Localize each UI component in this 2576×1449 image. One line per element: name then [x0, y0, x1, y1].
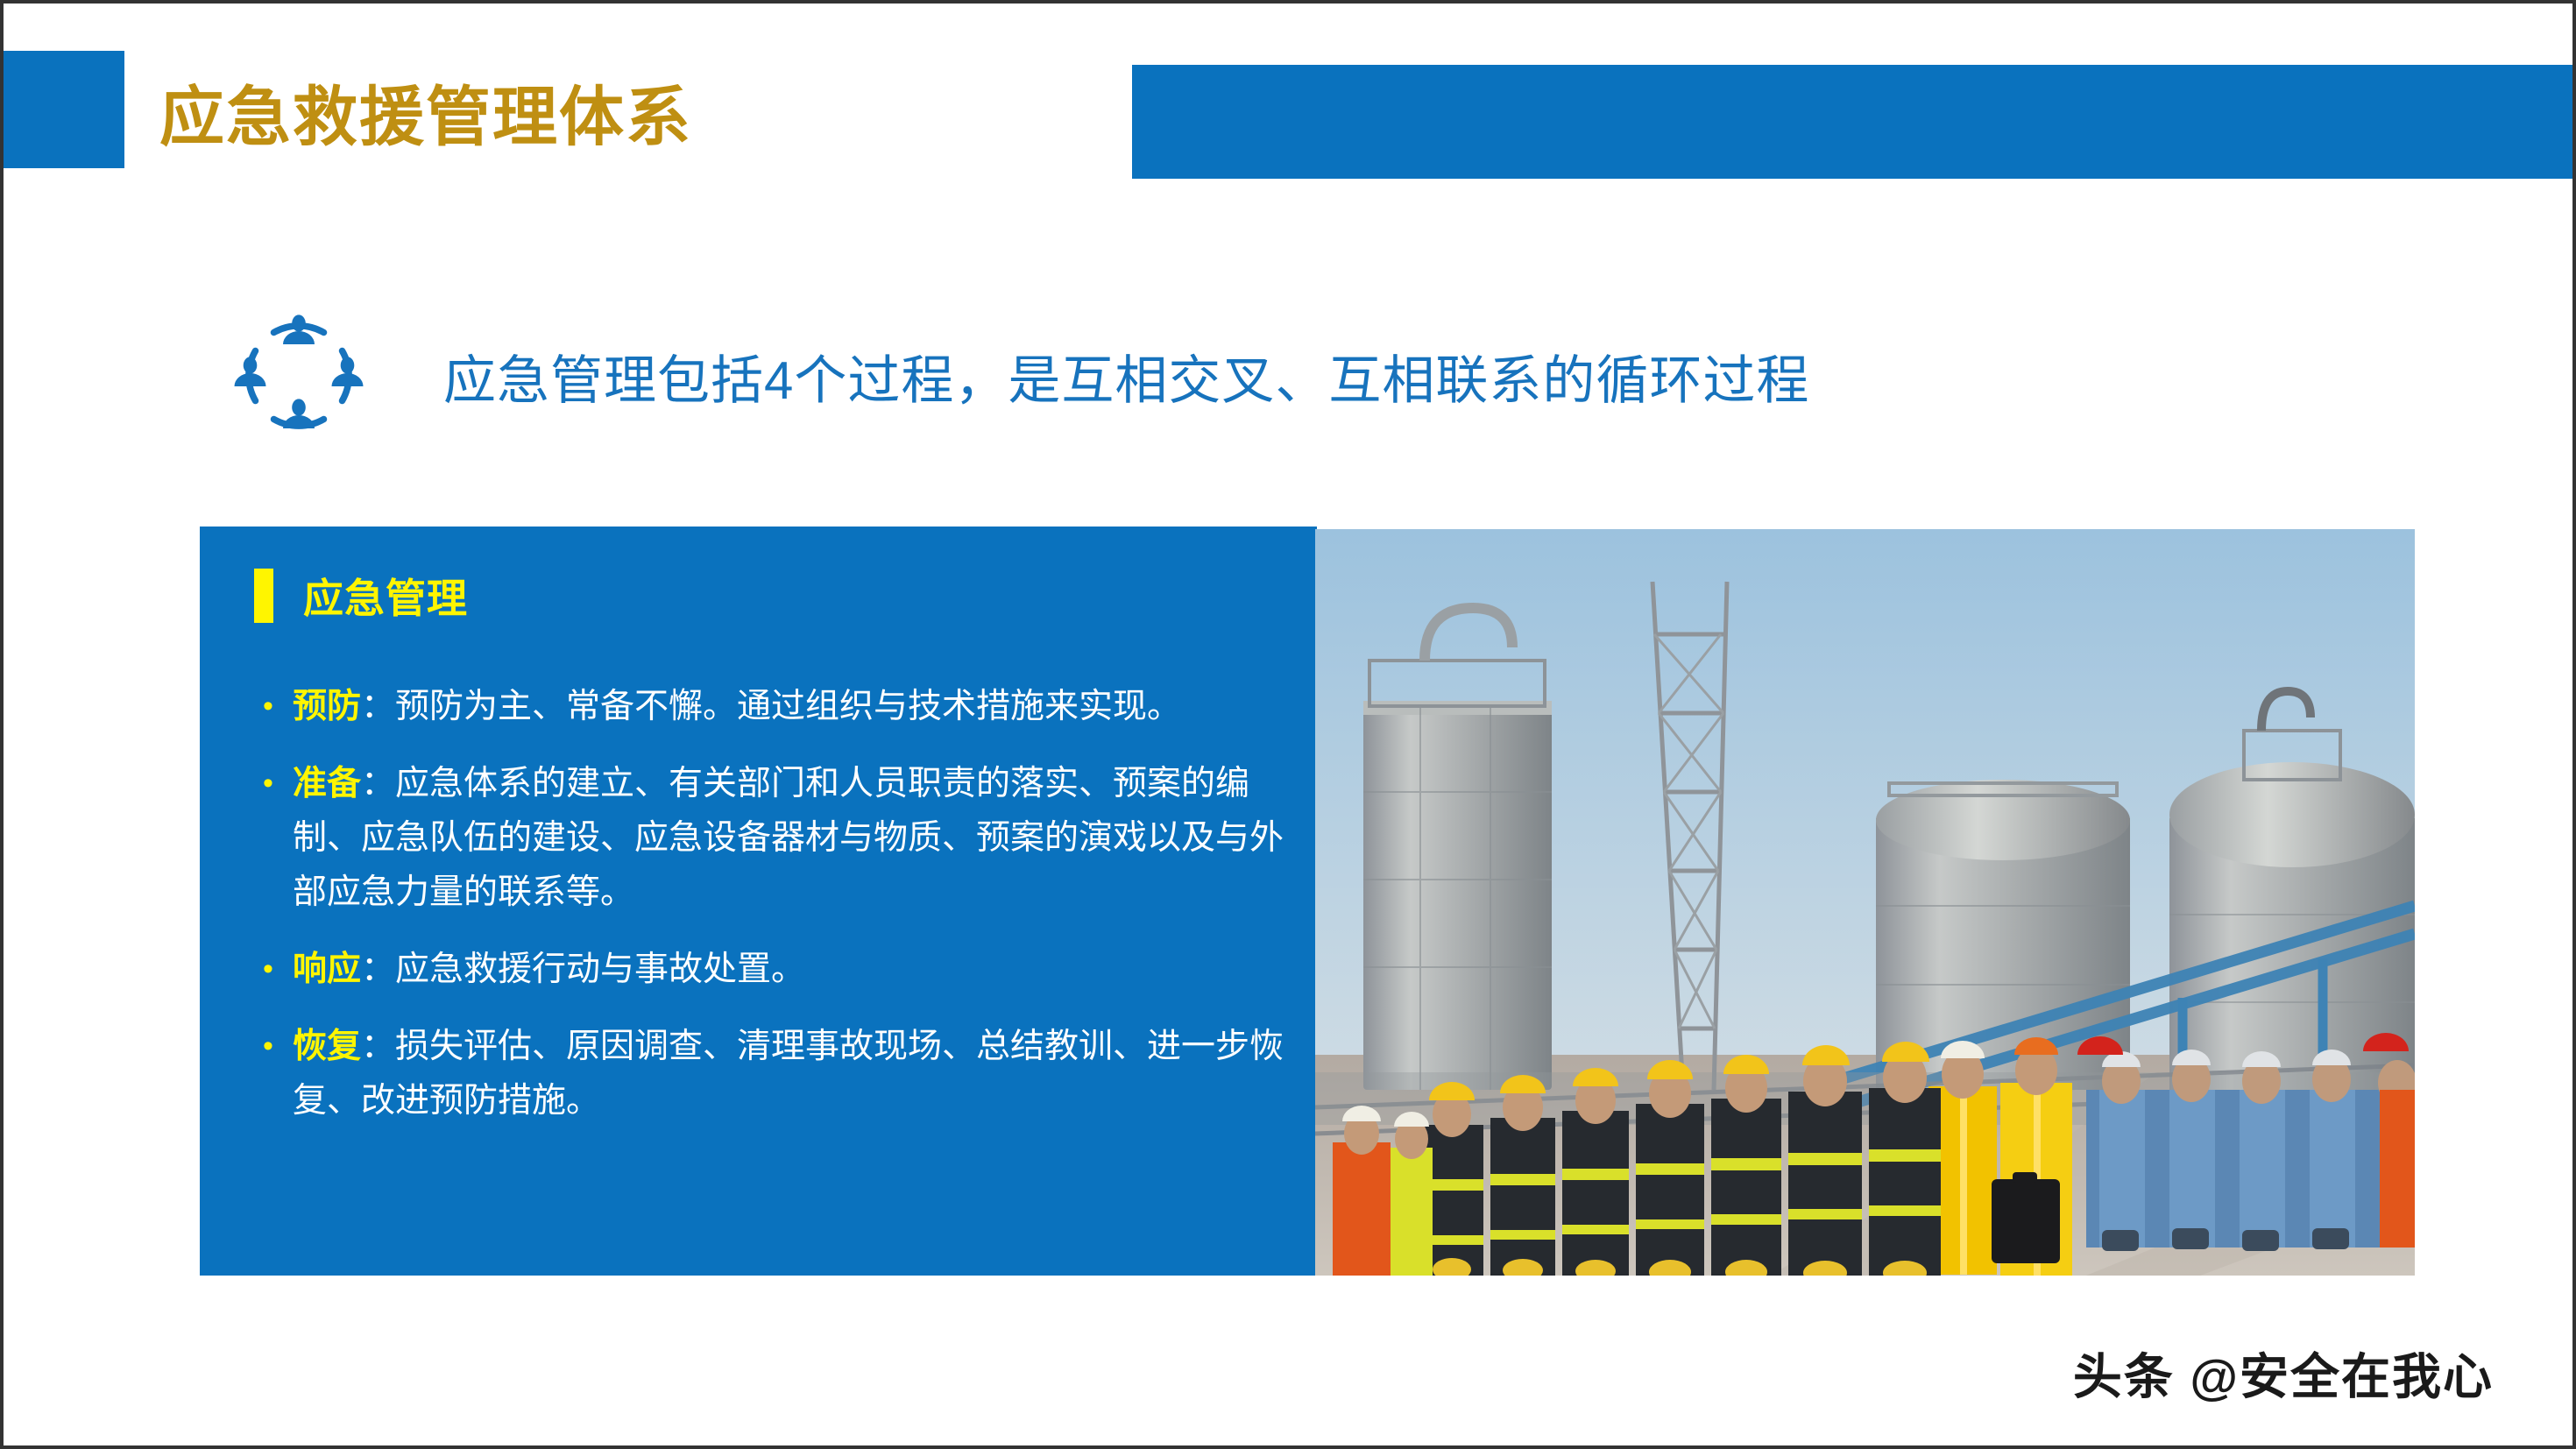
- yellow-bar-marker-icon: [254, 569, 273, 623]
- panel-heading: 应急管理: [254, 567, 468, 625]
- panel-heading-label: 应急管理: [303, 567, 468, 625]
- bullet-item: •准备：应急体系的建立、有关部门和人员职责的落实、预案的编制、应急队伍的建设、应…: [244, 757, 1292, 920]
- bullet-separator: ：: [361, 951, 395, 988]
- presentation-slide: 应急救援管理体系: [0, 0, 2576, 1449]
- bullet-description: 应急体系的建立、有关部门和人员职责的落实、预案的编制、应急队伍的建设、应急设备器…: [293, 765, 1284, 911]
- header-right-accent-bar: [1132, 65, 2576, 179]
- emergency-team-photo: [1315, 529, 2415, 1276]
- bullet-description: 损失评估、原因调查、清理事故现场、总结教训、进一步恢复、改进预防措施。: [293, 1028, 1284, 1120]
- bullet-text: 响应：应急救援行动与事故处置。: [293, 943, 805, 997]
- bullet-description: 预防为主、常备不懈。通过组织与技术措施来实现。: [395, 688, 1181, 725]
- bullet-dot-icon: •: [244, 680, 293, 732]
- bullet-dot-icon: •: [244, 757, 293, 809]
- bullet-item: •预防：预防为主、常备不懈。通过组织与技术措施来实现。: [244, 680, 1292, 734]
- page-title: 应急救援管理体系: [159, 54, 692, 168]
- bullet-item: •恢复：损失评估、原因调查、清理事故现场、总结教训、进一步恢复、改进预防措施。: [244, 1020, 1292, 1128]
- subtitle-row: 应急管理包括4个过程，是互相交叉、互相联系的循环过程: [233, 293, 1809, 459]
- bullet-text: 预防：预防为主、常备不懈。通过组织与技术措施来实现。: [293, 680, 1181, 734]
- bullet-list: •预防：预防为主、常备不懈。通过组织与技术措施来实现。•准备：应急体系的建立、有…: [244, 680, 1292, 1151]
- bullet-description: 应急救援行动与事故处置。: [395, 951, 805, 988]
- bullet-text: 准备：应急体系的建立、有关部门和人员职责的落实、预案的编制、应急队伍的建设、应急…: [293, 757, 1292, 920]
- bullet-separator: ：: [361, 1028, 395, 1065]
- bullet-dot-icon: •: [244, 943, 293, 995]
- subtitle-text: 应急管理包括4个过程，是互相交叉、互相联系的循环过程: [443, 338, 1809, 414]
- team-circle-icon: [233, 310, 364, 442]
- watermark-text: 头条 @安全在我心: [2073, 1338, 2494, 1409]
- content-panel: 应急管理 •预防：预防为主、常备不懈。通过组织与技术措施来实现。•准备：应急体系…: [200, 527, 1317, 1276]
- bullet-separator: ：: [361, 688, 395, 725]
- bullet-term: 预防: [293, 688, 361, 725]
- header-left-accent-block: [4, 51, 124, 168]
- bullet-separator: ：: [361, 765, 395, 802]
- bullet-term: 恢复: [293, 1028, 361, 1065]
- bullet-dot-icon: •: [244, 1020, 293, 1072]
- bullet-item: •响应：应急救援行动与事故处置。: [244, 943, 1292, 997]
- bullet-term: 准备: [293, 765, 361, 802]
- bullet-text: 恢复：损失评估、原因调查、清理事故现场、总结教训、进一步恢复、改进预防措施。: [293, 1020, 1292, 1128]
- bullet-term: 响应: [293, 951, 361, 988]
